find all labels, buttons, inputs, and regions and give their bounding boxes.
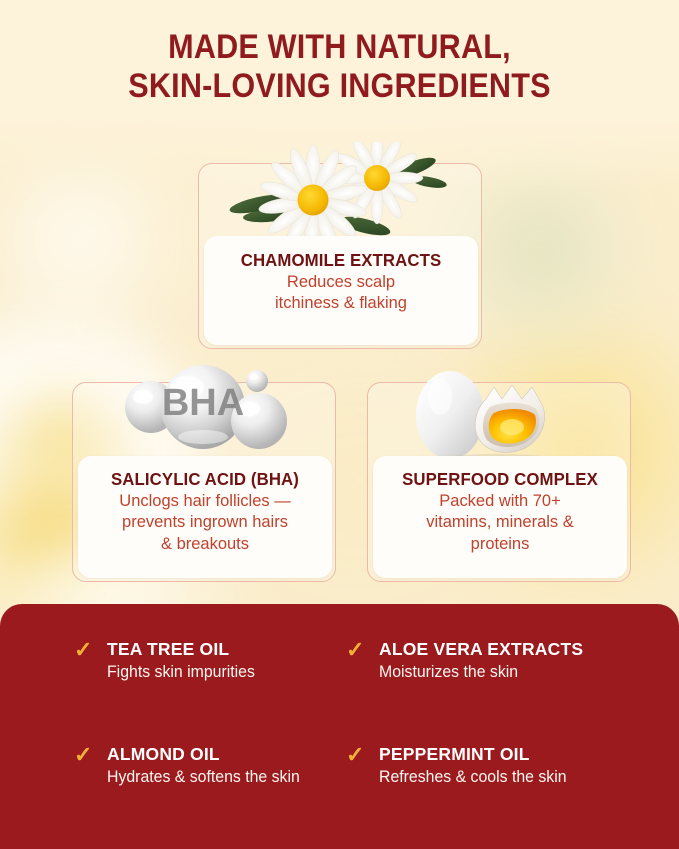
benefits-list: ✓ TEA TREE OIL Fights skin impurities ✓ … xyxy=(74,638,659,789)
benefit-title: PEPPERMINT OIL xyxy=(379,744,530,764)
ingredient-card-superfood-complex: SUPERFOOD COMPLEX Packed with 70+ vitami… xyxy=(367,382,631,582)
ingredient-title: CHAMOMILE EXTRACTS xyxy=(209,250,472,271)
ingredient-desc-line: Unclogs hair follicles — xyxy=(82,490,328,511)
ingredient-desc-line: prevents ingrown hairs xyxy=(82,511,328,532)
check-icon: ✓ xyxy=(74,744,100,766)
benefit-item-peppermint-oil: ✓ PEPPERMINT OIL Refreshes & cools the s… xyxy=(346,743,659,788)
benefit-title: ALOE VERA EXTRACTS xyxy=(379,639,583,659)
benefits-panel: ✓ TEA TREE OIL Fights skin impurities ✓ … xyxy=(0,604,679,849)
page-title-line-1: MADE WITH NATURAL, xyxy=(168,28,511,66)
benefit-item-almond-oil: ✓ ALMOND OIL Hydrates & softens the skin xyxy=(74,743,346,788)
ingredient-card-superfood-complex-panel: SUPERFOOD COMPLEX Packed with 70+ vitami… xyxy=(373,456,627,578)
benefit-desc: Hydrates & softens the skin xyxy=(107,767,300,788)
svg-text:BHA: BHA xyxy=(162,382,244,424)
ingredient-desc-line: vitamins, minerals & xyxy=(377,511,623,532)
ingredient-title: SUPERFOOD COMPLEX xyxy=(378,469,622,490)
check-icon: ✓ xyxy=(74,639,100,661)
ingredient-desc-line: Packed with 70+ xyxy=(377,490,623,511)
benefit-desc: Fights skin impurities xyxy=(107,662,255,683)
ingredient-desc-line: Reduces scalp xyxy=(208,271,474,292)
benefit-title: ALMOND OIL xyxy=(107,744,220,764)
benefit-desc: Refreshes & cools the skin xyxy=(379,767,567,788)
page-title-line-2: SKIN-LOVING INGREDIENTS xyxy=(34,67,645,106)
ingredient-title: SALICYLIC ACID (BHA) xyxy=(83,469,327,490)
benefit-desc: Moisturizes the skin xyxy=(379,662,575,683)
check-icon: ✓ xyxy=(346,744,372,766)
ingredient-card-salicylic-acid-panel: SALICYLIC ACID (BHA) Unclogs hair follic… xyxy=(78,456,332,578)
ingredient-desc-line: itchiness & flaking xyxy=(208,292,474,313)
page-title: MADE WITH NATURAL, SKIN-LOVING INGREDIEN… xyxy=(34,28,645,107)
ingredient-card-chamomile: CHAMOMILE EXTRACTS Reduces scalp itchine… xyxy=(198,163,482,349)
benefit-item-aloe-vera-extracts: ✓ ALOE VERA EXTRACTS Moisturizes the ski… xyxy=(346,638,659,683)
ingredient-card-chamomile-panel: CHAMOMILE EXTRACTS Reduces scalp itchine… xyxy=(204,236,478,345)
ingredients-infographic: MADE WITH NATURAL, SKIN-LOVING INGREDIEN… xyxy=(0,0,679,849)
ingredient-card-salicylic-acid: BHA SALICYLIC ACID (BHA) Unclogs hair fo… xyxy=(72,382,336,582)
check-icon: ✓ xyxy=(346,639,372,661)
benefit-item-tea-tree-oil: ✓ TEA TREE OIL Fights skin impurities xyxy=(74,638,346,683)
benefit-title: TEA TREE OIL xyxy=(107,639,229,659)
ingredient-desc-line: proteins xyxy=(377,533,623,554)
ingredient-desc-line: & breakouts xyxy=(82,533,328,554)
